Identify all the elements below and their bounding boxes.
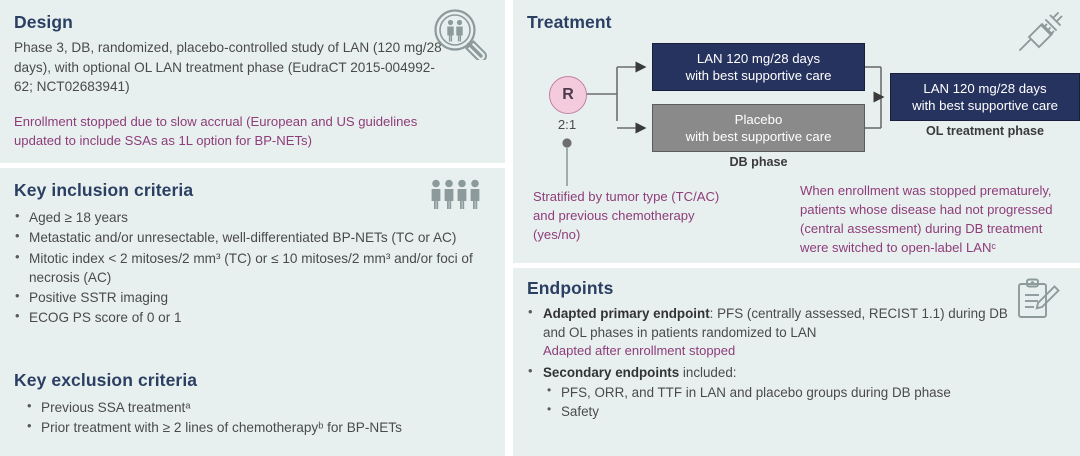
secondary-endpoint-text: included: — [679, 365, 736, 380]
list-item: Aged ≥ 18 years — [10, 208, 500, 227]
endpoints-panel: Endpoints Adapted primary endpoint: PFS … — [513, 268, 1080, 456]
arm-lan-ol-box: LAN 120 mg/28 days with best supportive … — [890, 73, 1080, 121]
design-body-text: Phase 3, DB, randomized, placebo-control… — [14, 38, 444, 97]
primary-endpoint-label: Adapted primary endpoint — [543, 306, 710, 321]
secondary-endpoint-label: Secondary endpoints — [543, 365, 679, 380]
arm-placebo-line1: Placebo — [735, 111, 783, 128]
treatment-title: Treatment — [527, 12, 612, 33]
list-item: Prior treatment with ≥ 2 lines of chemot… — [22, 418, 502, 437]
slide-root: Design Phase 3, DB, randomized, placebo-… — [0, 0, 1080, 456]
arm-lan-db-line2: with best supportive care — [686, 67, 832, 84]
randomization-circle: R — [549, 76, 587, 114]
criteria-panel: Key inclusion criteria Aged ≥ 18 years M… — [0, 168, 505, 456]
ol-phase-label: OL treatment phase — [890, 124, 1080, 138]
design-panel: Design Phase 3, DB, randomized, placebo-… — [0, 0, 505, 163]
list-item: ECOG PS score of 0 or 1 — [10, 308, 500, 327]
list-item: Previous SSA treatmentᵃ — [22, 398, 502, 417]
design-enrollment-note: Enrollment stopped due to slow accrual (… — [14, 113, 459, 150]
arm-placebo-line2: with best supportive care — [686, 128, 832, 145]
list-item: Mitotic index < 2 mitoses/2 mm³ (TC) or … — [10, 249, 500, 288]
list-item: Positive SSTR imaging — [10, 288, 500, 307]
primary-endpoint-note: Adapted after enrollment stopped — [543, 342, 1033, 360]
magnifier-people-icon — [431, 8, 489, 65]
list-item: Safety — [543, 402, 1033, 421]
inclusion-criteria-title: Key inclusion criteria — [14, 180, 193, 201]
treatment-panel: Treatment — [513, 0, 1080, 263]
primary-endpoint-item: Adapted primary endpoint: PFS (centrally… — [523, 304, 1033, 361]
arm-lan-db-line1: LAN 120 mg/28 days — [697, 50, 820, 67]
arm-lan-db-box: LAN 120 mg/28 days with best supportive … — [652, 43, 865, 91]
db-phase-label: DB phase — [652, 155, 865, 169]
list-item: Metastatic and/or unresectable, well-dif… — [10, 228, 500, 247]
randomization-ratio: 2:1 — [549, 117, 585, 132]
list-item: PFS, ORR, and TTF in LAN and placebo gro… — [543, 383, 1033, 402]
exclusion-criteria-list: Previous SSA treatmentᵃ Prior treatment … — [22, 398, 502, 439]
endpoints-list: Adapted primary endpoint: PFS (centrally… — [523, 304, 1033, 423]
exclusion-criteria-title: Key exclusion criteria — [14, 370, 197, 391]
stratification-note: Stratified by tumor type (TC/AC) and pre… — [533, 188, 733, 245]
secondary-endpoint-sublist: PFS, ORR, and TTF in LAN and placebo gro… — [543, 383, 1033, 422]
arm-placebo-box: Placebo with best supportive care — [652, 104, 865, 152]
switch-to-open-label-note: When enrollment was stopped prematurely,… — [800, 182, 1072, 258]
arm-lan-ol-line2: with best supportive care — [912, 97, 1058, 114]
design-title: Design — [14, 12, 73, 33]
inclusion-criteria-list: Aged ≥ 18 years Metastatic and/or unrese… — [10, 208, 500, 329]
secondary-endpoint-item: Secondary endpoints included: PFS, ORR, … — [523, 363, 1033, 422]
arm-lan-ol-line1: LAN 120 mg/28 days — [923, 80, 1046, 97]
endpoints-title: Endpoints — [527, 278, 613, 299]
syringe-icon — [1012, 8, 1066, 61]
